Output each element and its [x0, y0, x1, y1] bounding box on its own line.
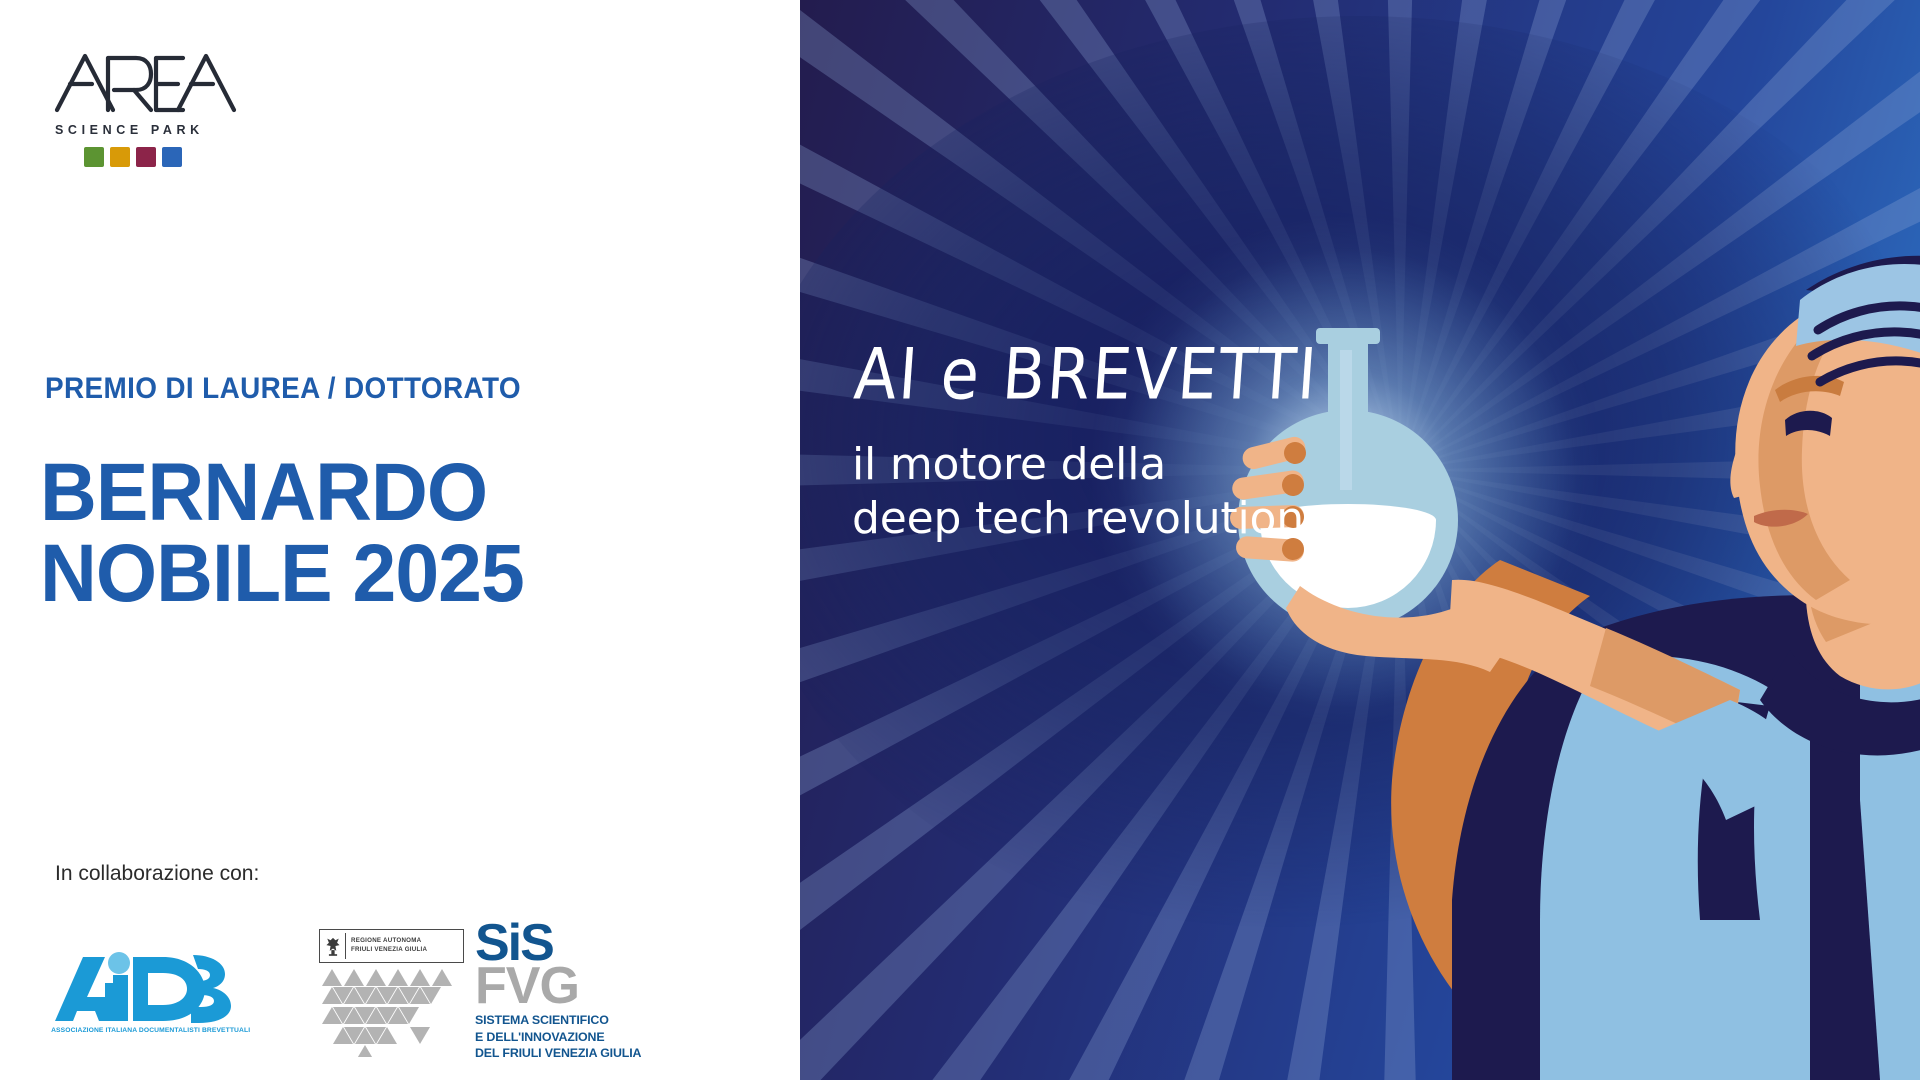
area-logo-subtitle: SCIENCE PARK	[55, 123, 272, 137]
award-title-line2: NOBILE 2025	[40, 533, 524, 614]
eagle-crest-icon	[324, 933, 346, 959]
sisfvg-desc-line3: DEL FRIULI VENEZIA GIULIA	[475, 1045, 650, 1062]
aidb-logo: ASSOCIAZIONE ITALIANA DOCUMENTALISTI BRE…	[53, 947, 243, 1034]
left-panel: SCIENCE PARK PREMIO DI LAUREA / DOTTORAT…	[0, 0, 800, 1080]
award-kicker: PREMIO DI LAUREA / DOTTORATO	[45, 372, 521, 406]
collaboration-logos: ASSOCIAZIONE ITALIANA DOCUMENTALISTI BRE…	[45, 905, 675, 1055]
swatch-amber	[110, 147, 130, 167]
aidb-tagline: ASSOCIAZIONE ITALIANA DOCUMENTALISTI BRE…	[51, 1027, 245, 1034]
swatch-blue	[162, 147, 182, 167]
collaboration-label: In collaborazione con:	[55, 862, 259, 886]
right-panel: AI e BREVETTI il motore della deep tech …	[800, 0, 1920, 1080]
regione-line2: FRIULI VENEZIA GIULIA	[351, 946, 427, 955]
regione-fvg-badge: REGIONE AUTONOMA FRIULI VENEZIA GIULIA	[319, 929, 464, 963]
hero-subtitle-line2: deep tech revolution	[852, 492, 1552, 546]
aidb-mark-icon	[53, 947, 243, 1025]
area-science-park-logo: SCIENCE PARK	[52, 48, 272, 167]
poster: SCIENCE PARK PREMIO DI LAUREA / DOTTORAT…	[0, 0, 1920, 1080]
hero-headline: AI e BREVETTI	[852, 339, 1557, 410]
sisfvg-text-block: SiS FVG SISTEMA SCIENTIFICO E DELL'INNOV…	[475, 923, 650, 1062]
award-title: BERNARDO NOBILE 2025	[40, 452, 524, 614]
award-title-line1: BERNARDO	[40, 447, 487, 538]
triangle-mosaic-icon	[320, 965, 465, 1057]
swatch-green	[84, 147, 104, 167]
regione-badge-text: REGIONE AUTONOMA FRIULI VENEZIA GIULIA	[351, 937, 427, 955]
area-color-swatches	[84, 147, 272, 167]
sisfvg-description: SISTEMA SCIENTIFICO E DELL'INNOVAZIONE D…	[475, 1012, 650, 1062]
sisfvg-logo: REGIONE AUTONOMA FRIULI VENEZIA GIULIA	[275, 905, 635, 1055]
hero-text-block: AI e BREVETTI il motore della deep tech …	[852, 348, 1552, 545]
fvg-acronym: FVG	[475, 964, 650, 1009]
hero-subtitle-line1: il motore della	[852, 438, 1552, 492]
regione-line1: REGIONE AUTONOMA	[351, 937, 427, 946]
area-wordmark-icon	[52, 48, 252, 116]
sisfvg-desc-line1: SISTEMA SCIENTIFICO	[475, 1012, 650, 1029]
sisfvg-desc-line2: E DELL'INNOVAZIONE	[475, 1029, 650, 1046]
swatch-maroon	[136, 147, 156, 167]
hero-subtitle: il motore della deep tech revolution	[852, 438, 1552, 545]
